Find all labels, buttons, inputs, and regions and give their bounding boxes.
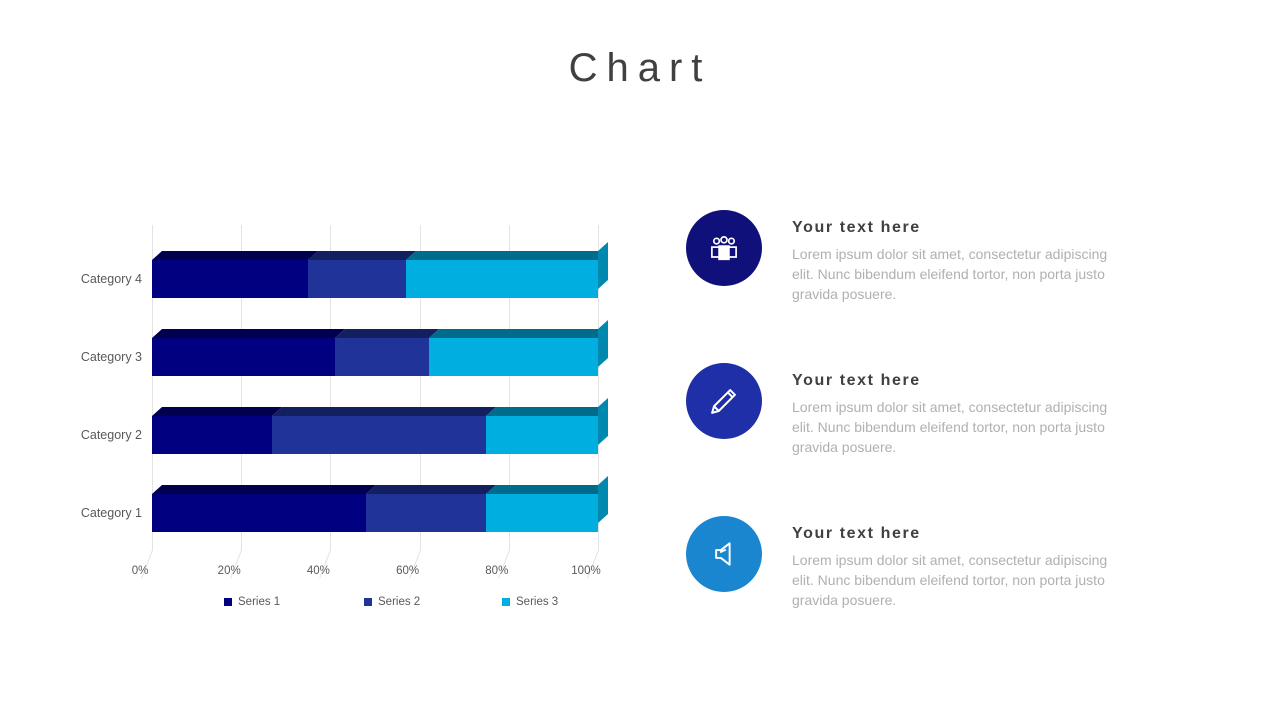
chart-x-tick-label: 80% <box>485 565 508 577</box>
chart-stacked-bar[interactable] <box>152 416 598 454</box>
feature-body-text: Lorem ipsum dolor sit amet, consectetur … <box>792 551 1122 611</box>
chart-stacked-bar[interactable] <box>152 338 598 376</box>
chart-bar-segment-top-face <box>366 485 496 494</box>
chart-panel: Category 4Category 3Category 2Category 1… <box>40 200 640 630</box>
chart-category-label: Category 4 <box>52 260 142 298</box>
pencil-icon[interactable] <box>686 363 762 439</box>
feature-item[interactable]: Your text hereLorem ipsum dolor sit amet… <box>686 516 1146 611</box>
chart-bar-segment[interactable] <box>406 260 598 298</box>
chart-bar-end-cap <box>598 476 608 523</box>
chart-stacked-bar[interactable] <box>152 494 598 532</box>
chart-bar-segment[interactable] <box>429 338 598 376</box>
chart-category-label: Category 3 <box>52 338 142 376</box>
chart-bar-segment[interactable] <box>272 416 486 454</box>
chart-x-tick-label: 40% <box>307 565 330 577</box>
feature-text-block: Your text hereLorem ipsum dolor sit amet… <box>792 363 1122 458</box>
chart-legend-swatch <box>502 598 510 606</box>
feature-list: Your text hereLorem ipsum dolor sit amet… <box>686 210 1146 668</box>
chart-bar-segment[interactable] <box>152 494 366 532</box>
chart-bar-segment[interactable] <box>152 260 308 298</box>
chart-bar-segment[interactable] <box>366 494 486 532</box>
chart-bar-segment[interactable] <box>486 416 598 454</box>
chart-x-tick-label: 0% <box>132 565 149 577</box>
chart-bar-end-cap <box>598 398 608 445</box>
chart-bar-end-cap <box>598 242 608 289</box>
page-title: Chart <box>0 44 1280 92</box>
chart-bar-segment-top-face <box>486 407 607 416</box>
chart-legend-label: Series 2 <box>378 596 420 608</box>
chart-legend-item[interactable]: Series 3 <box>502 596 558 608</box>
chart-x-tick-label: 60% <box>396 565 419 577</box>
chart-x-tick-label: 100% <box>571 565 600 577</box>
chart-bar-segment[interactable] <box>308 260 406 298</box>
chart-bar-segment[interactable] <box>152 416 272 454</box>
chart-plot-area: Category 4Category 3Category 2Category 1 <box>152 225 598 550</box>
chart-bar-segment-top-face <box>308 251 416 260</box>
feature-text-block: Your text hereLorem ipsum dolor sit amet… <box>792 210 1122 305</box>
chart-bar-segment-top-face <box>406 251 608 260</box>
people-group-icon[interactable] <box>686 210 762 286</box>
chart-legend-label: Series 3 <box>516 596 558 608</box>
chart-stacked-bar[interactable] <box>152 260 598 298</box>
feature-item[interactable]: Your text hereLorem ipsum dolor sit amet… <box>686 363 1146 458</box>
chart-bar-segment-top-face <box>335 329 439 338</box>
feature-heading: Your text here <box>792 524 1122 543</box>
chart-bar-segment[interactable] <box>152 338 335 376</box>
chart-bar-end-cap <box>598 320 608 367</box>
chart-bar-segment-top-face <box>429 329 608 338</box>
chart-legend-item[interactable]: Series 1 <box>224 596 280 608</box>
chart-bar-segment-top-face <box>152 485 376 494</box>
chart-legend-swatch <box>224 598 232 606</box>
speaker-icon[interactable] <box>686 516 762 592</box>
chart-x-tick-label: 20% <box>218 565 241 577</box>
chart-bar-segment-top-face <box>152 329 345 338</box>
feature-item[interactable]: Your text hereLorem ipsum dolor sit amet… <box>686 210 1146 305</box>
chart-bar-segment-top-face <box>152 407 282 416</box>
chart-bar-segment-top-face <box>272 407 496 416</box>
feature-body-text: Lorem ipsum dolor sit amet, consectetur … <box>792 245 1122 305</box>
chart-bar-segment[interactable] <box>335 338 429 376</box>
chart-bar-segment-top-face <box>152 251 318 260</box>
feature-body-text: Lorem ipsum dolor sit amet, consectetur … <box>792 398 1122 458</box>
chart-x-axis: 0%20%40%60%80%100% <box>152 565 598 585</box>
feature-heading: Your text here <box>792 371 1122 390</box>
chart-legend-label: Series 1 <box>238 596 280 608</box>
chart-bar-segment[interactable] <box>486 494 598 532</box>
feature-text-block: Your text hereLorem ipsum dolor sit amet… <box>792 516 1122 611</box>
feature-heading: Your text here <box>792 218 1122 237</box>
chart-category-label: Category 2 <box>52 416 142 454</box>
chart-category-label: Category 1 <box>52 494 142 532</box>
chart-legend-swatch <box>364 598 372 606</box>
chart-bar-segment-top-face <box>486 485 607 494</box>
chart-legend-item[interactable]: Series 2 <box>364 596 420 608</box>
